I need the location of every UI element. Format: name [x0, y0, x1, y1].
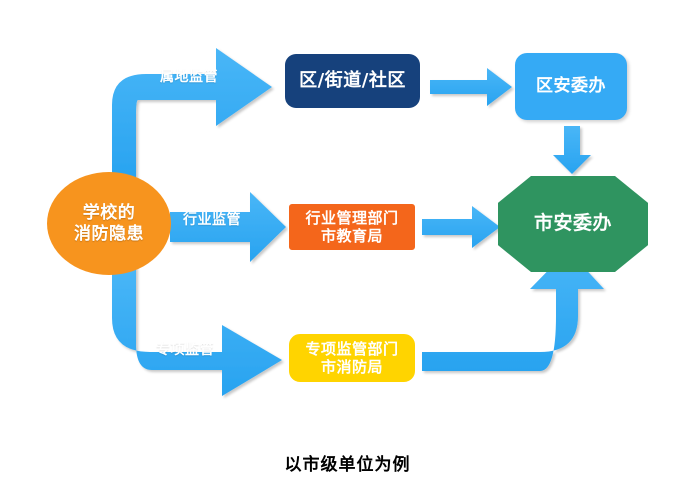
arrow-special-supervision	[112, 266, 282, 396]
arrow-education-to-city-office	[422, 206, 500, 248]
arrow-label-industry-supervision: 行业监管	[183, 209, 241, 229]
node-city-safety-committee-office[interactable]: 市安委办	[498, 176, 648, 272]
node-district-street-community[interactable]: 区/街道/社区	[285, 54, 420, 108]
arrow-label-local-supervision: 属地监管	[160, 66, 218, 86]
diagram-canvas: 学校的 消防隐患 区/街道/社区 区安委办 行业管理部门 市教育局 专项监管部门…	[0, 0, 695, 489]
diagram-caption: 以市级单位为例	[0, 450, 695, 475]
node-district-safety-committee-office[interactable]: 区安委办	[515, 53, 627, 120]
node-school-fire-hazard[interactable]: 学校的 消防隐患	[47, 172, 171, 275]
node-fire-bureau[interactable]: 专项监管部门 市消防局	[288, 333, 416, 383]
arrow-district-office-to-city-office	[553, 126, 591, 174]
arrow-district-to-district-office	[430, 68, 512, 106]
arrow-label-special-supervision: 专项监管	[156, 339, 214, 359]
node-education-bureau[interactable]: 行业管理部门 市教育局	[288, 203, 416, 251]
